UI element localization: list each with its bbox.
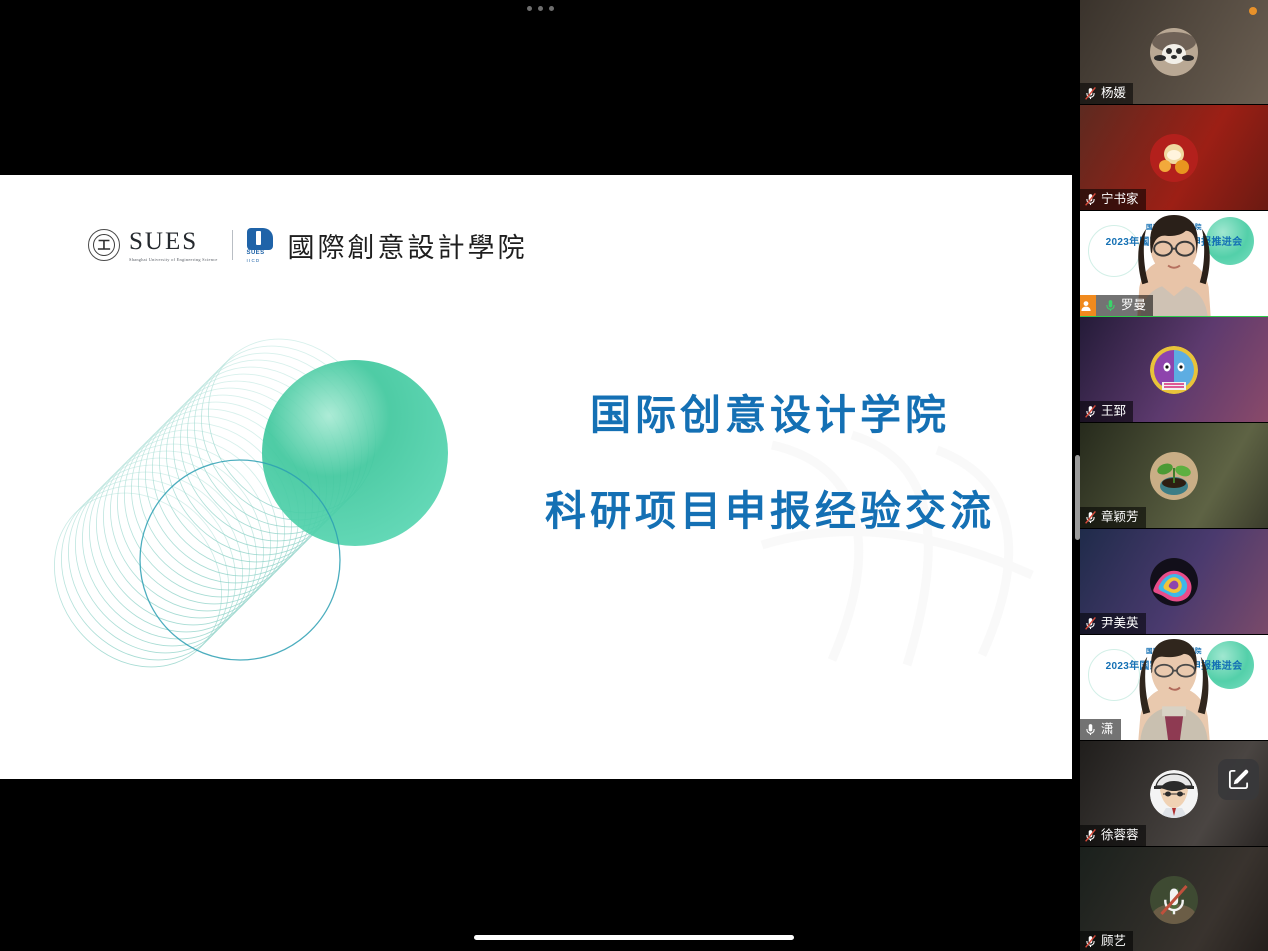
mic-on-icon: [1104, 298, 1117, 313]
logo-divider: [232, 230, 233, 260]
participant-tile[interactable]: 章颖芳: [1080, 423, 1268, 529]
institution-logo: 工 SUES Shanghai University of Engineerin…: [88, 223, 528, 267]
name-chip: 潇: [1080, 719, 1121, 740]
seal-glyph: 工: [97, 239, 110, 252]
sues-subtitle: Shanghai University of Engineering Scien…: [129, 257, 218, 262]
mic-on-icon: [1084, 722, 1097, 737]
pencil-square-icon: [1227, 768, 1250, 791]
avatar: [1150, 558, 1198, 606]
participant-name: 潇: [1101, 723, 1114, 736]
sues-acronym: SUES: [129, 229, 218, 254]
slide-title: 国际创意设计学院 科研项目申报经验交流: [520, 395, 1020, 532]
name-chip: 罗曼: [1080, 295, 1153, 316]
mic-muted-icon: [1084, 616, 1097, 631]
avatar: [1150, 452, 1198, 500]
green-sphere: [262, 360, 448, 546]
iicd-mark-label: SUES: [247, 250, 275, 258]
name-chip: 杨媛: [1080, 83, 1133, 104]
dot-2: [538, 6, 543, 11]
name-chip: 顾艺: [1080, 931, 1133, 951]
participant-tile[interactable]: 尹美英: [1080, 529, 1268, 635]
college-name-zh: 國際創意設計學院: [288, 226, 528, 265]
dot-3: [549, 6, 554, 11]
participant-tile[interactable]: 宁书家: [1080, 105, 1268, 211]
spirograph-cylinder-graphic: [18, 330, 488, 690]
more-options-dots[interactable]: [0, 6, 1080, 11]
participant-tile[interactable]: 顾艺: [1080, 847, 1268, 951]
participant-filmstrip[interactable]: 杨媛 宁书家: [1080, 0, 1268, 951]
dot-1: [527, 6, 532, 11]
home-indicator-bar: [474, 935, 794, 940]
participant-tile[interactable]: 王郅: [1080, 317, 1268, 423]
participant-tile[interactable]: 国际创意设计学院 2023年国家级项目申报推进会: [1080, 635, 1268, 741]
shared-content-pane[interactable]: 工 SUES Shanghai University of Engineerin…: [0, 0, 1080, 951]
mic-muted-icon: [1084, 510, 1097, 525]
participant-name: 章颖芳: [1101, 511, 1139, 524]
annotate-button[interactable]: [1218, 759, 1259, 800]
avatar: [1150, 346, 1198, 394]
name-chip: 徐蓉蓉: [1080, 825, 1146, 846]
title-line-1: 国际创意设计学院: [520, 395, 1020, 436]
participant-name: 杨媛: [1101, 87, 1126, 100]
participant-name: 罗曼: [1121, 299, 1146, 312]
participant-name: 徐蓉蓉: [1101, 829, 1139, 842]
participant-tile-active-speaker[interactable]: 国际创意设计学院 2023年国家级项目申报推进会: [1080, 211, 1268, 317]
mic-muted-icon: [1084, 934, 1097, 949]
iicd-badge-shape: [247, 228, 273, 250]
mic-muted-icon: [1084, 828, 1097, 843]
name-chip: 章颖芳: [1080, 507, 1146, 528]
university-seal-icon: 工: [88, 229, 120, 261]
mic-muted-overlay-icon: [1157, 883, 1191, 917]
presentation-slide[interactable]: 工 SUES Shanghai University of Engineerin…: [0, 175, 1072, 779]
title-line-2: 科研项目申报经验交流: [520, 491, 1020, 532]
avatar: [1150, 770, 1198, 818]
participant-name: 王郅: [1101, 405, 1126, 418]
recording-indicator: [1249, 7, 1257, 15]
sues-wordmark: SUES Shanghai University of Engineering …: [129, 229, 218, 262]
host-badge-icon: [1080, 295, 1096, 316]
iicd-mark-sub: IICD: [247, 258, 275, 264]
app-root: 工 SUES Shanghai University of Engineerin…: [0, 0, 1268, 951]
participant-tile[interactable]: 杨媛: [1080, 0, 1268, 105]
avatar: [1150, 28, 1198, 76]
avatar: [1150, 134, 1198, 182]
name-chip: 宁书家: [1080, 189, 1146, 210]
name-chip: 王郅: [1080, 401, 1133, 422]
participant-tile[interactable]: 徐蓉蓉: [1080, 741, 1268, 847]
participant-name: 尹美英: [1101, 617, 1139, 630]
participant-name: 顾艺: [1101, 935, 1126, 948]
iicd-logo-icon: SUES IICD: [247, 228, 275, 262]
name-chip: 尹美英: [1080, 613, 1146, 634]
mic-muted-icon: [1084, 192, 1097, 207]
mic-muted-icon: [1084, 404, 1097, 419]
participant-name: 宁书家: [1101, 193, 1139, 206]
mic-muted-icon: [1084, 86, 1097, 101]
